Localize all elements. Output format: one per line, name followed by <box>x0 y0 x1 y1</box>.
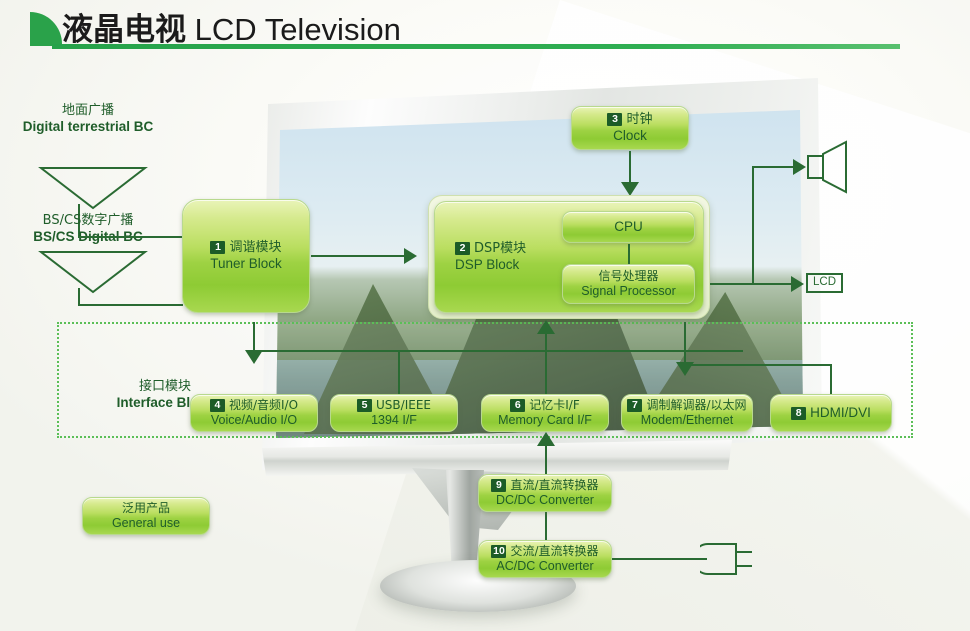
terrestrial-to-tuner-line <box>78 236 183 238</box>
clock-to-dsp-arrow <box>621 182 639 196</box>
speaker-feed-line <box>752 166 798 168</box>
block-io-memory-card[interactable]: 6记忆卡I/F Memory Card I/F <box>481 394 609 432</box>
terrestrial-input-label: 地面广播 Digital terrestrial BC <box>8 103 168 135</box>
block-io4-en: Voice/Audio I/O <box>211 413 297 427</box>
block-tuner-number: 1 <box>210 241 225 254</box>
legend-general-use-cn: 泛用产品 <box>122 502 170 515</box>
io4-drop-line <box>253 322 255 352</box>
io6-to-dsp-arrow <box>537 320 555 334</box>
output-riser-line <box>752 166 754 284</box>
block-tuner[interactable]: 1调谐模块 Tuner Block <box>182 199 310 313</box>
block-signal-processor-en: Signal Processor <box>581 284 676 298</box>
block-io8-number: 8 <box>791 407 806 420</box>
cpu-to-signal-line <box>628 244 630 264</box>
block-io8-label: 8HDMI/DVI <box>791 405 871 420</box>
block-dcdc-cn: 9直流/直流转换器 <box>491 479 598 492</box>
header-rule <box>52 44 900 49</box>
legend-general-use-en: General use <box>112 516 180 530</box>
block-cpu-label: CPU <box>614 219 643 234</box>
block-dcdc-en: DC/DC Converter <box>496 493 594 507</box>
block-io6-en: Memory Card I/F <box>498 413 592 427</box>
satellite-to-tuner-line <box>78 304 183 306</box>
block-io-modem-ethernet[interactable]: 7调制解调器/以太网 Modem/Ethernet <box>621 394 753 432</box>
block-dsp-en: DSP Block <box>455 257 519 272</box>
tuner-to-dsp-arrow <box>404 248 417 264</box>
clock-to-dsp-line <box>629 151 631 185</box>
antenna-icon-2 <box>38 248 148 298</box>
block-acdc-cn: 10交流/直流转换器 <box>491 545 598 558</box>
page-title: 液晶电视 LCD Television <box>62 4 401 49</box>
tuner-to-dsp-line <box>311 255 406 257</box>
block-io5-number: 5 <box>357 399 372 412</box>
hdmi-branch-line <box>684 364 832 366</box>
interface-bus-line <box>253 350 743 352</box>
block-ac-dc-converter[interactable]: 10交流/直流转换器 AC/DC Converter <box>478 540 612 578</box>
io5-stem-line <box>398 350 400 394</box>
page-header: 液晶电视 LCD Television <box>0 0 970 58</box>
block-acdc-number: 10 <box>491 545 506 558</box>
block-io7-number: 7 <box>627 399 642 412</box>
block-clock[interactable]: 3时钟 Clock <box>571 106 689 150</box>
block-acdc-en: AC/DC Converter <box>496 559 593 573</box>
block-signal-processor[interactable]: 信号处理器 Signal Processor <box>562 264 695 304</box>
satellite-input-label: BS/CS数字广播 BS/CS Digital BC <box>8 213 168 245</box>
block-tuner-en: Tuner Block <box>210 256 282 271</box>
block-tuner-cn: 1调谐模块 <box>210 241 281 256</box>
speaker-icon <box>806 140 852 194</box>
page-title-en: LCD Television <box>195 12 401 47</box>
lcd-arrow <box>791 276 804 292</box>
block-io-voice-audio[interactable]: 4视频/音频I/O Voice/Audio I/O <box>190 394 318 432</box>
block-io4-number: 4 <box>210 399 225 412</box>
block-dcdc-number: 9 <box>491 479 506 492</box>
legend-general-use[interactable]: 泛用产品 General use <box>82 497 210 535</box>
block-dc-dc-converter[interactable]: 9直流/直流转换器 DC/DC Converter <box>478 474 612 512</box>
hdmi-stem-line <box>830 364 832 396</box>
block-dsp-cn: 2DSP模块 <box>455 242 526 257</box>
antenna-icon <box>38 164 148 214</box>
block-signal-processor-cn: 信号处理器 <box>598 270 658 283</box>
block-clock-number: 3 <box>607 113 622 126</box>
block-io5-en: 1394 I/F <box>371 413 417 427</box>
block-io6-number: 6 <box>510 399 525 412</box>
leaf-corner-icon <box>30 12 62 46</box>
io6-stem-line <box>545 333 547 394</box>
acdc-to-plug-line <box>612 558 707 560</box>
dcdc-to-bus-arrow <box>537 432 555 446</box>
block-io-hdmi-dvi[interactable]: 8HDMI/DVI <box>770 394 892 432</box>
block-clock-en: Clock <box>613 128 647 143</box>
diagram-canvas: 液晶电视 LCD Television 接口模块 Interface Block… <box>0 0 970 631</box>
power-plug-icon <box>700 538 760 580</box>
block-cpu[interactable]: CPU <box>562 211 695 243</box>
io7-drop-line <box>684 322 686 364</box>
block-clock-cn: 3时钟 <box>607 113 652 128</box>
page-title-cn: 液晶电视 <box>62 12 186 48</box>
lcd-output-label: LCD <box>806 273 843 293</box>
block-io7-en: Modem/Ethernet <box>641 413 733 427</box>
io4-arrow <box>245 350 263 364</box>
block-io-usb-ieee[interactable]: 5USB/IEEE 1394 I/F <box>330 394 458 432</box>
speaker-arrow <box>793 159 806 175</box>
block-io7-cn: 7调制解调器/以太网 <box>627 399 746 412</box>
block-io4-cn: 4视频/音频I/O <box>210 399 298 412</box>
block-io5-cn: 5USB/IEEE <box>357 399 431 412</box>
block-dsp-number: 2 <box>455 242 470 255</box>
block-io6-cn: 6记忆卡I/F <box>510 399 580 412</box>
